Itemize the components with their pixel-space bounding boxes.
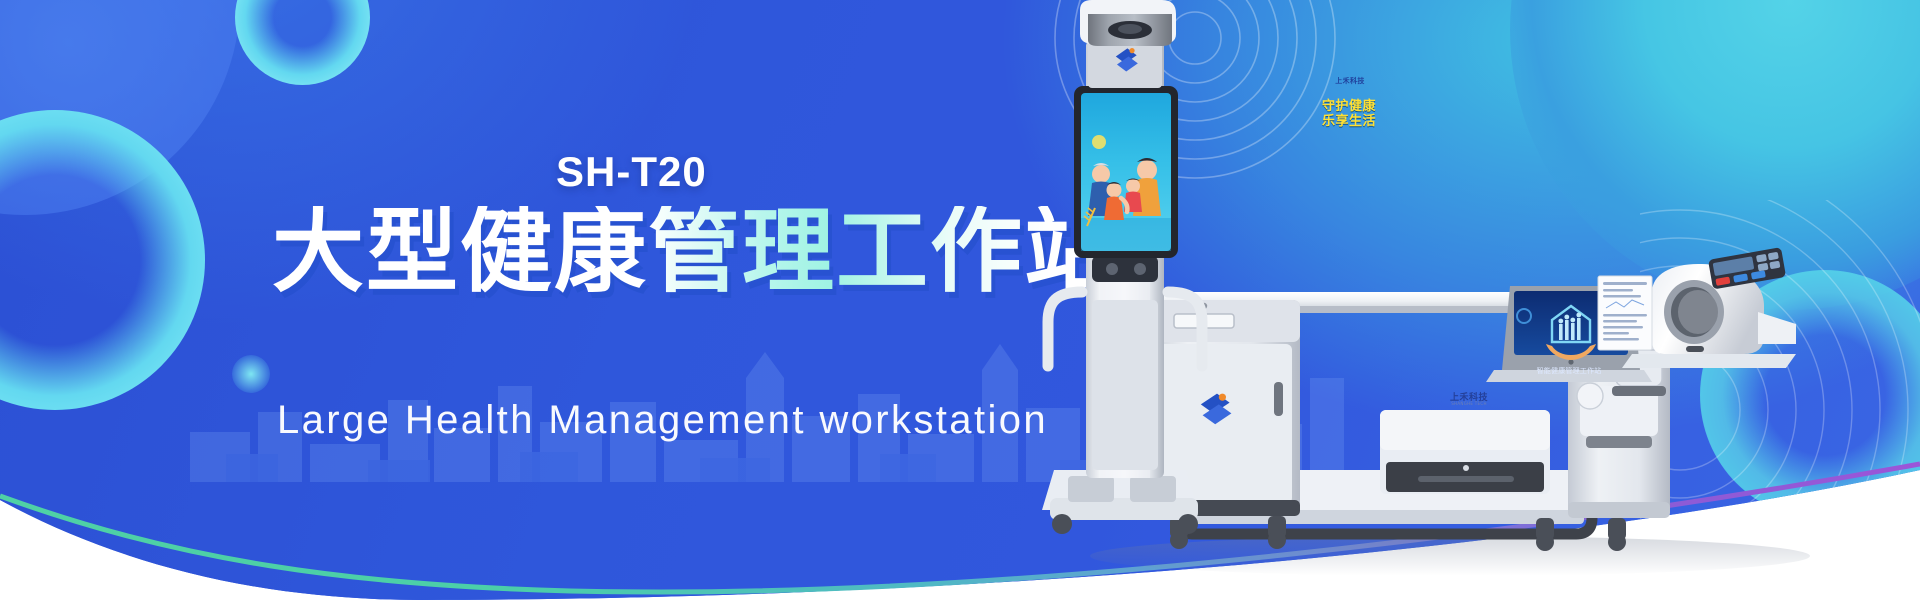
product-photo-health-workstation (1020, 0, 1920, 600)
product-hero-banner: SH-T20 大型健康管理工作站 Large Health Management… (0, 0, 1920, 600)
